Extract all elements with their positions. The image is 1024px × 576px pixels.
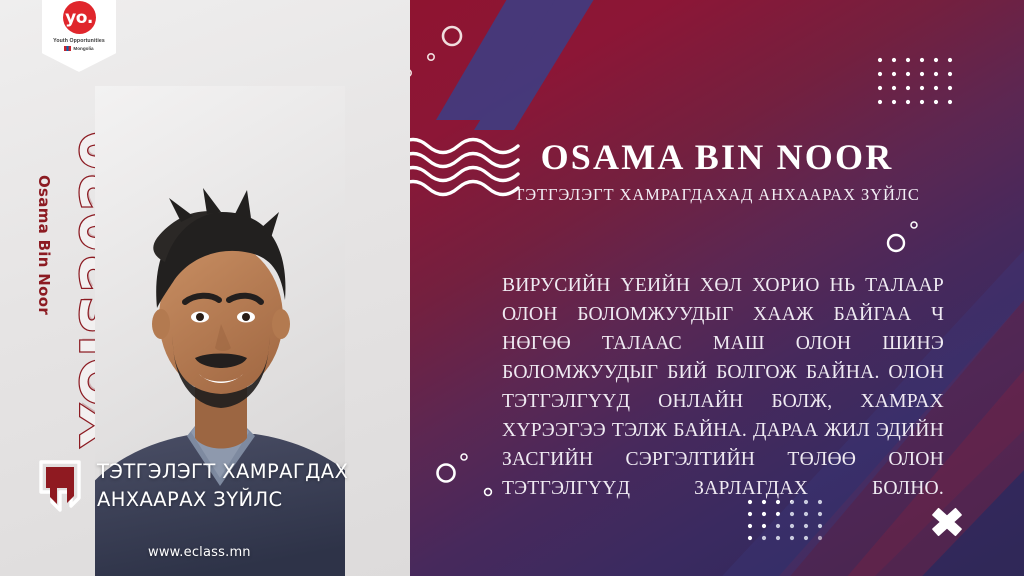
caption-text: ТЭТГЭЛЭГТ ХАМРАГДАХ АНХААРАХ ЗҮЙЛС <box>97 458 348 513</box>
slide-caption: ТЭТГЭЛЭГТ ХАМРАГДАХ АНХААРАХ ЗҮЙЛС <box>38 458 348 514</box>
left-panel: yo. Youth Opportunities Mongolia YOIS202… <box>0 0 410 576</box>
caption-line-1: ТЭТГЭЛЭГТ ХАМРАГДАХ <box>97 458 348 486</box>
organization-logo: yo. Youth Opportunities Mongolia <box>42 0 116 72</box>
logo-country-row: Mongolia <box>64 46 93 51</box>
circle-outline <box>410 27 461 76</box>
page-subtitle: ТЭТГЭЛЭГТ ХАМРАГДАХАД АНХААРАХ ЗҮЙЛС <box>410 185 1024 205</box>
dot-grid-top-right <box>878 58 952 104</box>
right-panel: OSAMA BIN NOOR ТЭТГЭЛЭГТ ХАМРАГДАХАД АНХ… <box>410 0 1024 576</box>
diagonal-stripe-top <box>436 0 618 130</box>
circle-outline-mid <box>888 222 917 251</box>
mongolia-flag-icon <box>64 46 71 51</box>
speaker-name-vertical: Osama Bin Noor <box>35 175 53 315</box>
page-title: OSAMA BIN NOOR <box>410 136 1024 178</box>
body-paragraph: ВИРУСИЙН ҮЕИЙН ХӨЛ ХОРИО НЬ ТАЛААР ОЛОН … <box>502 272 944 504</box>
logo-country-label: Mongolia <box>73 46 93 51</box>
website-url: www.eclass.mn <box>148 545 251 560</box>
book-icon <box>38 458 84 514</box>
circle-outline-bottom <box>438 454 492 495</box>
logo-org-name: Youth Opportunities <box>53 38 105 44</box>
caption-line-2: АНХААРАХ ЗҮЙЛС <box>97 486 348 514</box>
presentation-slide: yo. Youth Opportunities Mongolia YOIS202… <box>0 0 1024 576</box>
yo-logo-icon: yo. <box>63 1 96 34</box>
